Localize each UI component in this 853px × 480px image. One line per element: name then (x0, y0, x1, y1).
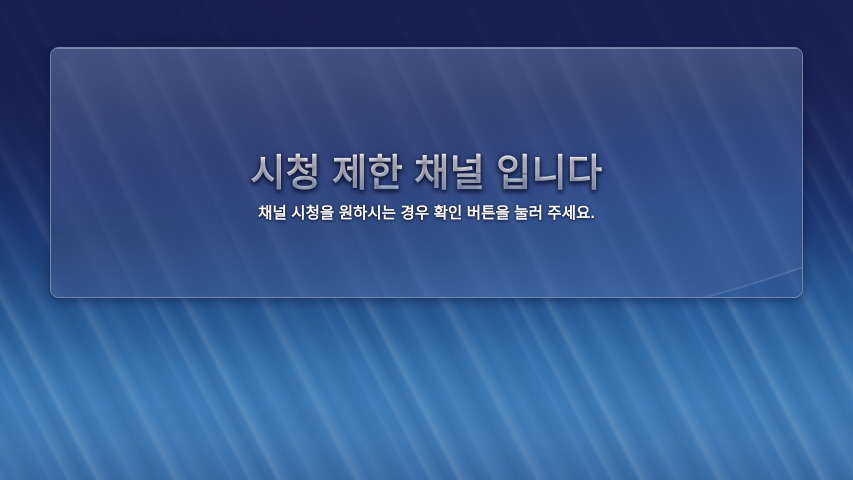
panel-glow (51, 48, 802, 297)
tv-screen: 시청 제한 채널 입니다 채널 시청을 원하시는 경우 확인 버튼을 눌러 주세… (0, 0, 853, 480)
notice-panel: 시청 제한 채널 입니다 채널 시청을 원하시는 경우 확인 버튼을 눌러 주세… (50, 47, 803, 298)
